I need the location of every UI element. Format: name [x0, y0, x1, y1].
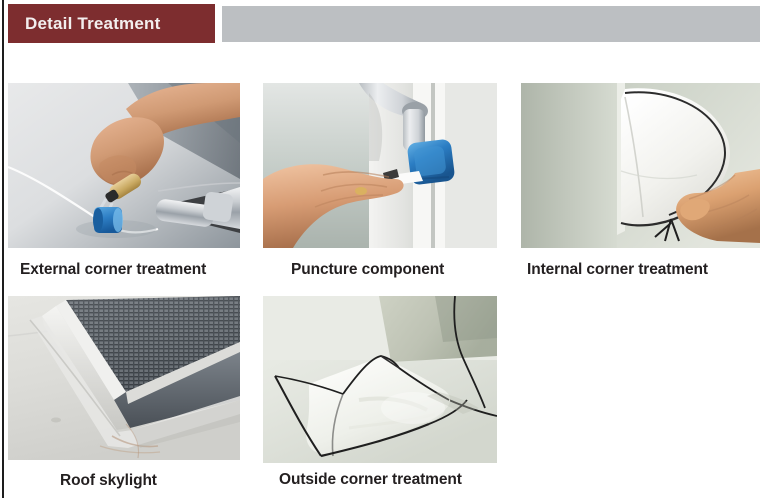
figure-caption: Roof skylight	[60, 472, 240, 490]
figure-roof-skylight: Roof skylight	[8, 296, 240, 490]
figure-caption: Internal corner treatment	[527, 261, 760, 279]
slide-header: Detail Treatment	[0, 0, 760, 48]
puncture-component-photo	[263, 83, 497, 248]
roof-skylight-photo	[8, 296, 240, 460]
figure-caption: Outside corner treatment	[279, 471, 497, 489]
figure-outside-corner-treatment: Outside corner treatment	[263, 296, 497, 489]
external-corner-treatment-photo	[8, 83, 240, 248]
header-accent-bar	[222, 6, 760, 42]
figure-external-corner-treatment: External corner treatment	[8, 83, 240, 279]
figure-puncture-component: Puncture component	[263, 83, 497, 279]
figure-caption: Puncture component	[291, 261, 497, 279]
slide-title-box: Detail Treatment	[8, 4, 215, 43]
figure-internal-corner-treatment: Internal corner treatment	[521, 83, 760, 279]
outside-corner-treatment-photo	[263, 296, 497, 463]
figure-caption: External corner treatment	[20, 261, 240, 279]
page-title: Detail Treatment	[8, 14, 160, 34]
left-margin-rule	[2, 0, 4, 498]
internal-corner-treatment-photo	[521, 83, 760, 248]
